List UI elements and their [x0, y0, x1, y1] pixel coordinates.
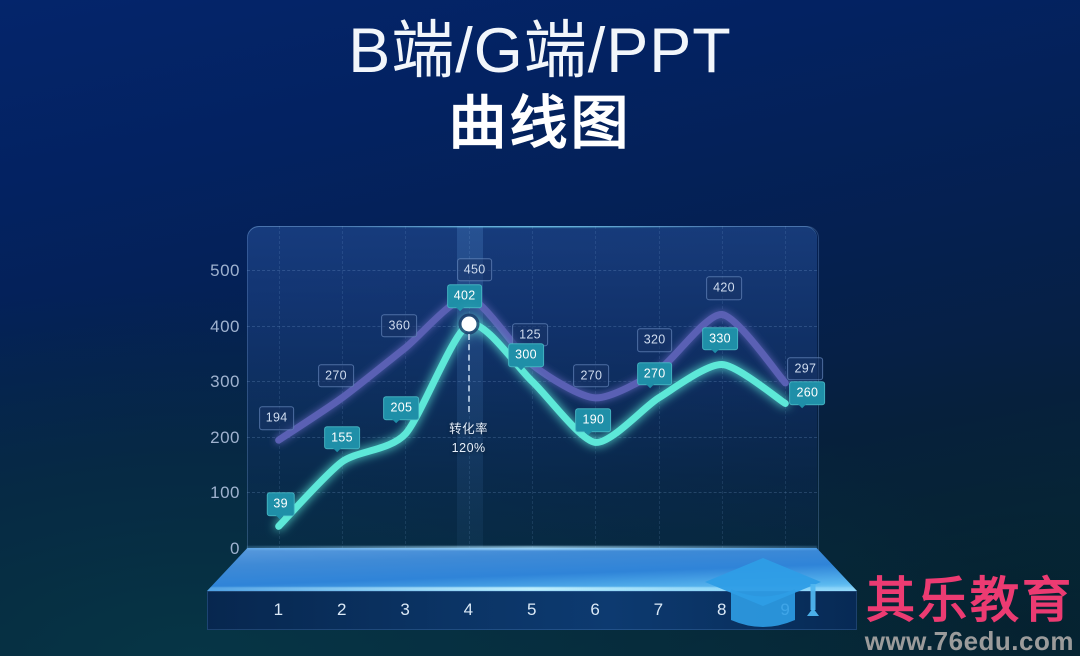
x-axis-tick: 3 [400, 600, 410, 620]
annotation-text: 转化率120% [449, 420, 488, 456]
data-label: 420 [706, 277, 742, 301]
y-axis-tick: 400 [196, 317, 240, 337]
x-axis-tick: 5 [527, 600, 537, 620]
y-axis: 0100200300400500 [196, 252, 240, 572]
data-label: 300 [508, 343, 544, 367]
graduation-cap-icon [703, 556, 823, 636]
slide-canvas: B端/G端/PPT 曲线图 0100200300400500 [0, 0, 1080, 656]
data-label: 320 [637, 328, 673, 352]
data-label: 190 [575, 409, 611, 433]
data-label: 205 [383, 396, 419, 420]
data-label: 260 [789, 382, 825, 406]
x-axis-tick: 6 [590, 600, 600, 620]
y-axis-tick: 500 [196, 261, 240, 281]
data-label: 360 [381, 314, 417, 338]
annotation-value: 120% [449, 439, 488, 457]
data-label: 155 [324, 426, 360, 450]
y-axis-tick: 0 [196, 539, 240, 559]
watermark-url: www.76edu.com [865, 628, 1074, 654]
data-label: 194 [259, 406, 295, 430]
annotation-leader-line [468, 334, 470, 412]
y-axis-tick: 300 [196, 372, 240, 392]
line-chart: 0100200300400500 19427036045012527032042… [0, 0, 1080, 656]
data-label: 450 [457, 258, 493, 282]
x-axis-tick: 7 [654, 600, 664, 620]
data-label: 297 [787, 357, 823, 381]
watermark: 其乐教育 www.76edu.com [865, 577, 1074, 654]
watermark-brand: 其乐教育 [865, 577, 1074, 626]
data-label: 270 [573, 364, 609, 388]
data-label: 330 [702, 327, 738, 351]
data-label: 270 [637, 362, 673, 386]
y-axis-tick: 100 [196, 483, 240, 503]
x-axis-tick: 1 [274, 600, 284, 620]
data-label: 39 [266, 493, 295, 517]
peak-marker-dot[interactable] [461, 317, 476, 332]
platform-top-highlight [247, 546, 817, 550]
data-label: 402 [447, 285, 483, 309]
x-axis-tick: 4 [464, 600, 474, 620]
x-axis-tick: 2 [337, 600, 347, 620]
data-label: 270 [318, 364, 354, 388]
y-axis-tick: 200 [196, 428, 240, 448]
annotation-label: 转化率 [449, 420, 488, 438]
